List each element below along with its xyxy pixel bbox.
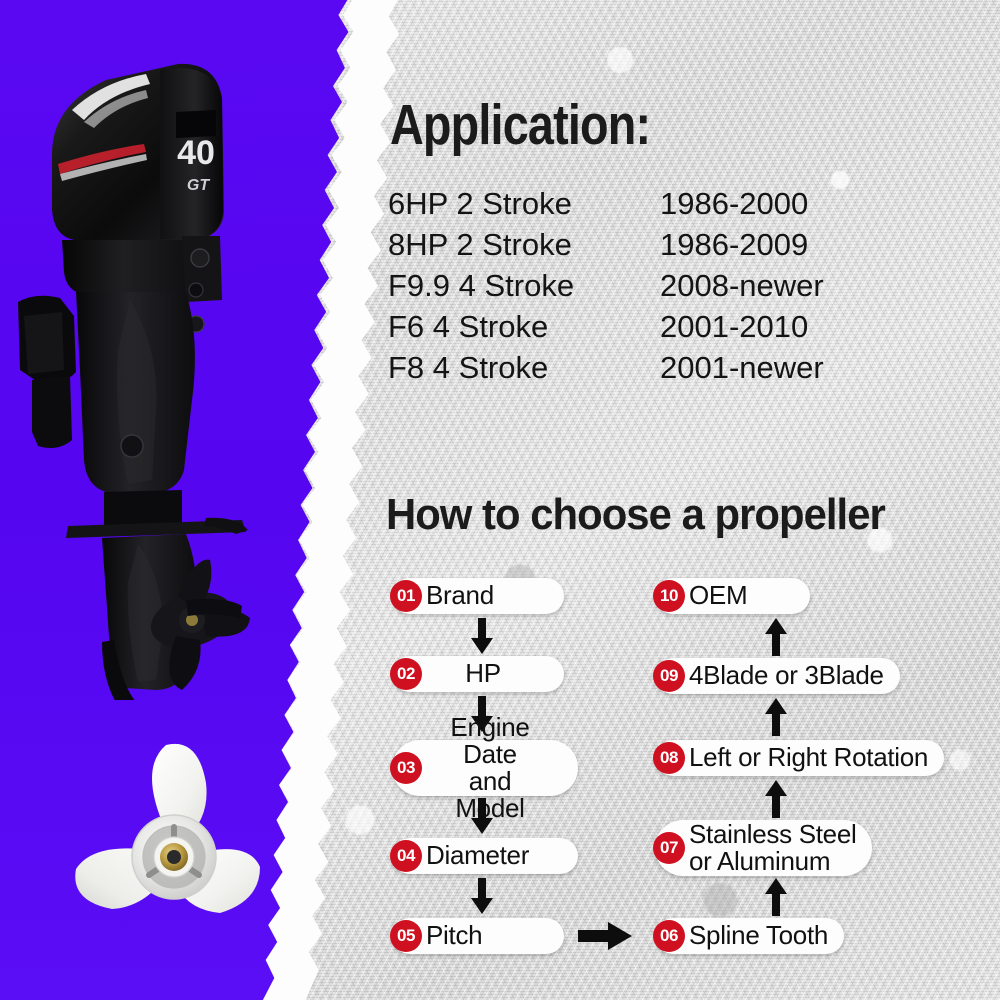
step-badge-04: 04 [390, 840, 422, 872]
flow-step-05: 05 Pitch [392, 918, 564, 954]
flow-step-04: 04 Diameter [392, 838, 578, 874]
step-label-01: Brand [426, 582, 494, 609]
step-label-04: Diameter [426, 842, 529, 869]
step-badge-06: 06 [653, 920, 685, 952]
infographic-page: 40 GT [0, 0, 1000, 1000]
step-label-06: Spline Tooth [689, 922, 828, 949]
step-label-08: Left or Right Rotation [689, 744, 928, 771]
step-badge-08: 08 [653, 742, 685, 774]
arrow-down-icon [468, 798, 496, 836]
arrow-up-icon [762, 878, 790, 916]
step-badge-07: 07 [653, 832, 685, 864]
flow-step-07: 07 Stainless Steel or Aluminum [655, 820, 872, 876]
step-badge-01: 01 [390, 580, 422, 612]
flow-step-09: 09 4Blade or 3Blade [655, 658, 900, 694]
step-badge-09: 09 [653, 660, 685, 692]
step-badge-10: 10 [653, 580, 685, 612]
arrow-down-icon [468, 878, 496, 916]
flow-step-02: 02 HP [392, 656, 564, 692]
flow-step-01: 01 Brand [392, 578, 564, 614]
flow-step-06: 06 Spline Tooth [655, 918, 844, 954]
arrow-up-icon [762, 780, 790, 818]
flow-step-10: 10 OEM [655, 578, 810, 614]
flow-step-03: 03 Engine Date and Model [392, 740, 578, 796]
step-badge-05: 05 [390, 920, 422, 952]
propeller-selection-flowchart: 01 Brand 02 HP 03 Engine Date and Model … [0, 0, 1000, 1000]
arrow-down-icon [468, 618, 496, 656]
step-label-09: 4Blade or 3Blade [689, 662, 884, 689]
step-badge-02: 02 [390, 658, 422, 690]
step-badge-03: 03 [390, 752, 422, 784]
step-label-05: Pitch [426, 922, 482, 949]
step-label-10: OEM [689, 582, 747, 609]
flow-step-08: 08 Left or Right Rotation [655, 740, 944, 776]
arrow-up-icon [762, 618, 790, 656]
step-label-02: HP [465, 660, 501, 687]
arrow-up-icon [762, 698, 790, 736]
step-label-07: Stainless Steel or Aluminum [689, 821, 856, 875]
arrow-right-icon [578, 920, 634, 952]
